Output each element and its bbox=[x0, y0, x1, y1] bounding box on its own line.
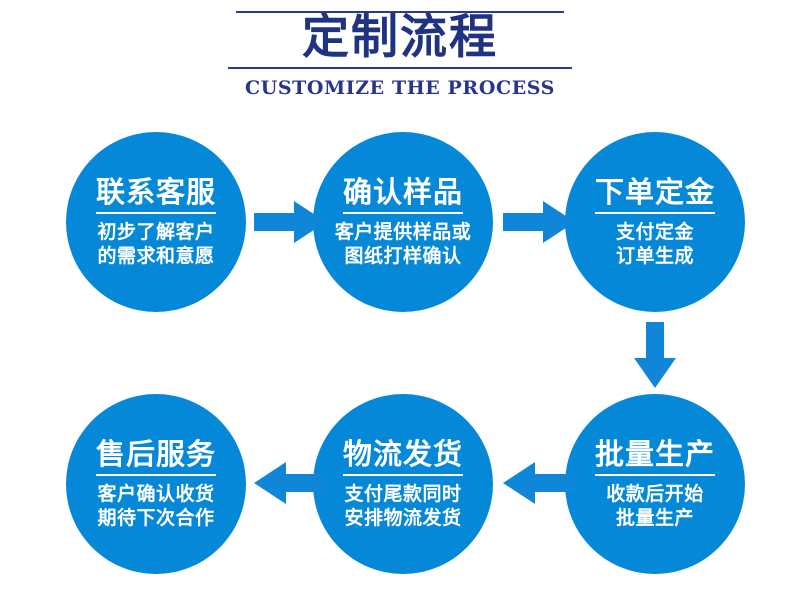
arrow-down-icon bbox=[632, 322, 678, 388]
arrow-left-icon bbox=[254, 460, 326, 506]
step-subtitle-line1: 客户提供样品或 bbox=[335, 220, 472, 244]
process-step-mass-production[interactable]: 批量生产 收款后开始 批量生产 bbox=[565, 394, 745, 574]
process-step-confirm-sample[interactable]: 确认样品 客户提供样品或 图纸打样确认 bbox=[313, 132, 493, 312]
step-subtitle-line2: 期待下次合作 bbox=[97, 506, 214, 530]
header-divider-bottom bbox=[228, 67, 572, 69]
step-subtitle-line2: 的需求和意愿 bbox=[97, 244, 214, 268]
step-subtitle-line1: 支付定金 bbox=[616, 220, 694, 244]
step-title: 售后服务 bbox=[96, 438, 216, 476]
step-title: 联系客服 bbox=[96, 176, 216, 214]
step-title: 确认样品 bbox=[343, 176, 463, 214]
step-subtitle-line2: 安排物流发货 bbox=[344, 506, 461, 530]
step-subtitle-line1: 初步了解客户 bbox=[97, 220, 214, 244]
arrow-right-icon bbox=[503, 199, 575, 245]
step-title: 下单定金 bbox=[595, 176, 715, 214]
process-step-contact-service[interactable]: 联系客服 初步了解客户 的需求和意愿 bbox=[66, 132, 246, 312]
step-subtitle-line2: 图纸打样确认 bbox=[344, 244, 461, 268]
page-subtitle: CUSTOMIZE THE PROCESS bbox=[0, 76, 800, 100]
step-title: 物流发货 bbox=[343, 438, 463, 476]
arrow-left-icon bbox=[503, 460, 575, 506]
arrow-right-icon bbox=[254, 199, 326, 245]
process-step-place-order-deposit[interactable]: 下单定金 支付定金 订单生成 bbox=[565, 132, 745, 312]
step-subtitle-line2: 订单生成 bbox=[616, 244, 694, 268]
process-step-after-sales-service[interactable]: 售后服务 客户确认收货 期待下次合作 bbox=[66, 394, 246, 574]
step-subtitle-line1: 收款后开始 bbox=[606, 482, 704, 506]
process-step-logistics-shipping[interactable]: 物流发货 支付尾款同时 安排物流发货 bbox=[313, 394, 493, 574]
step-subtitle-line1: 客户确认收货 bbox=[97, 482, 214, 506]
step-subtitle-line2: 批量生产 bbox=[616, 506, 694, 530]
page-header: 定制流程 CUSTOMIZE THE PROCESS bbox=[0, 0, 800, 120]
step-subtitle-line1: 支付尾款同时 bbox=[344, 482, 461, 506]
page-title: 定制流程 bbox=[0, 9, 800, 67]
step-title: 批量生产 bbox=[595, 438, 715, 476]
